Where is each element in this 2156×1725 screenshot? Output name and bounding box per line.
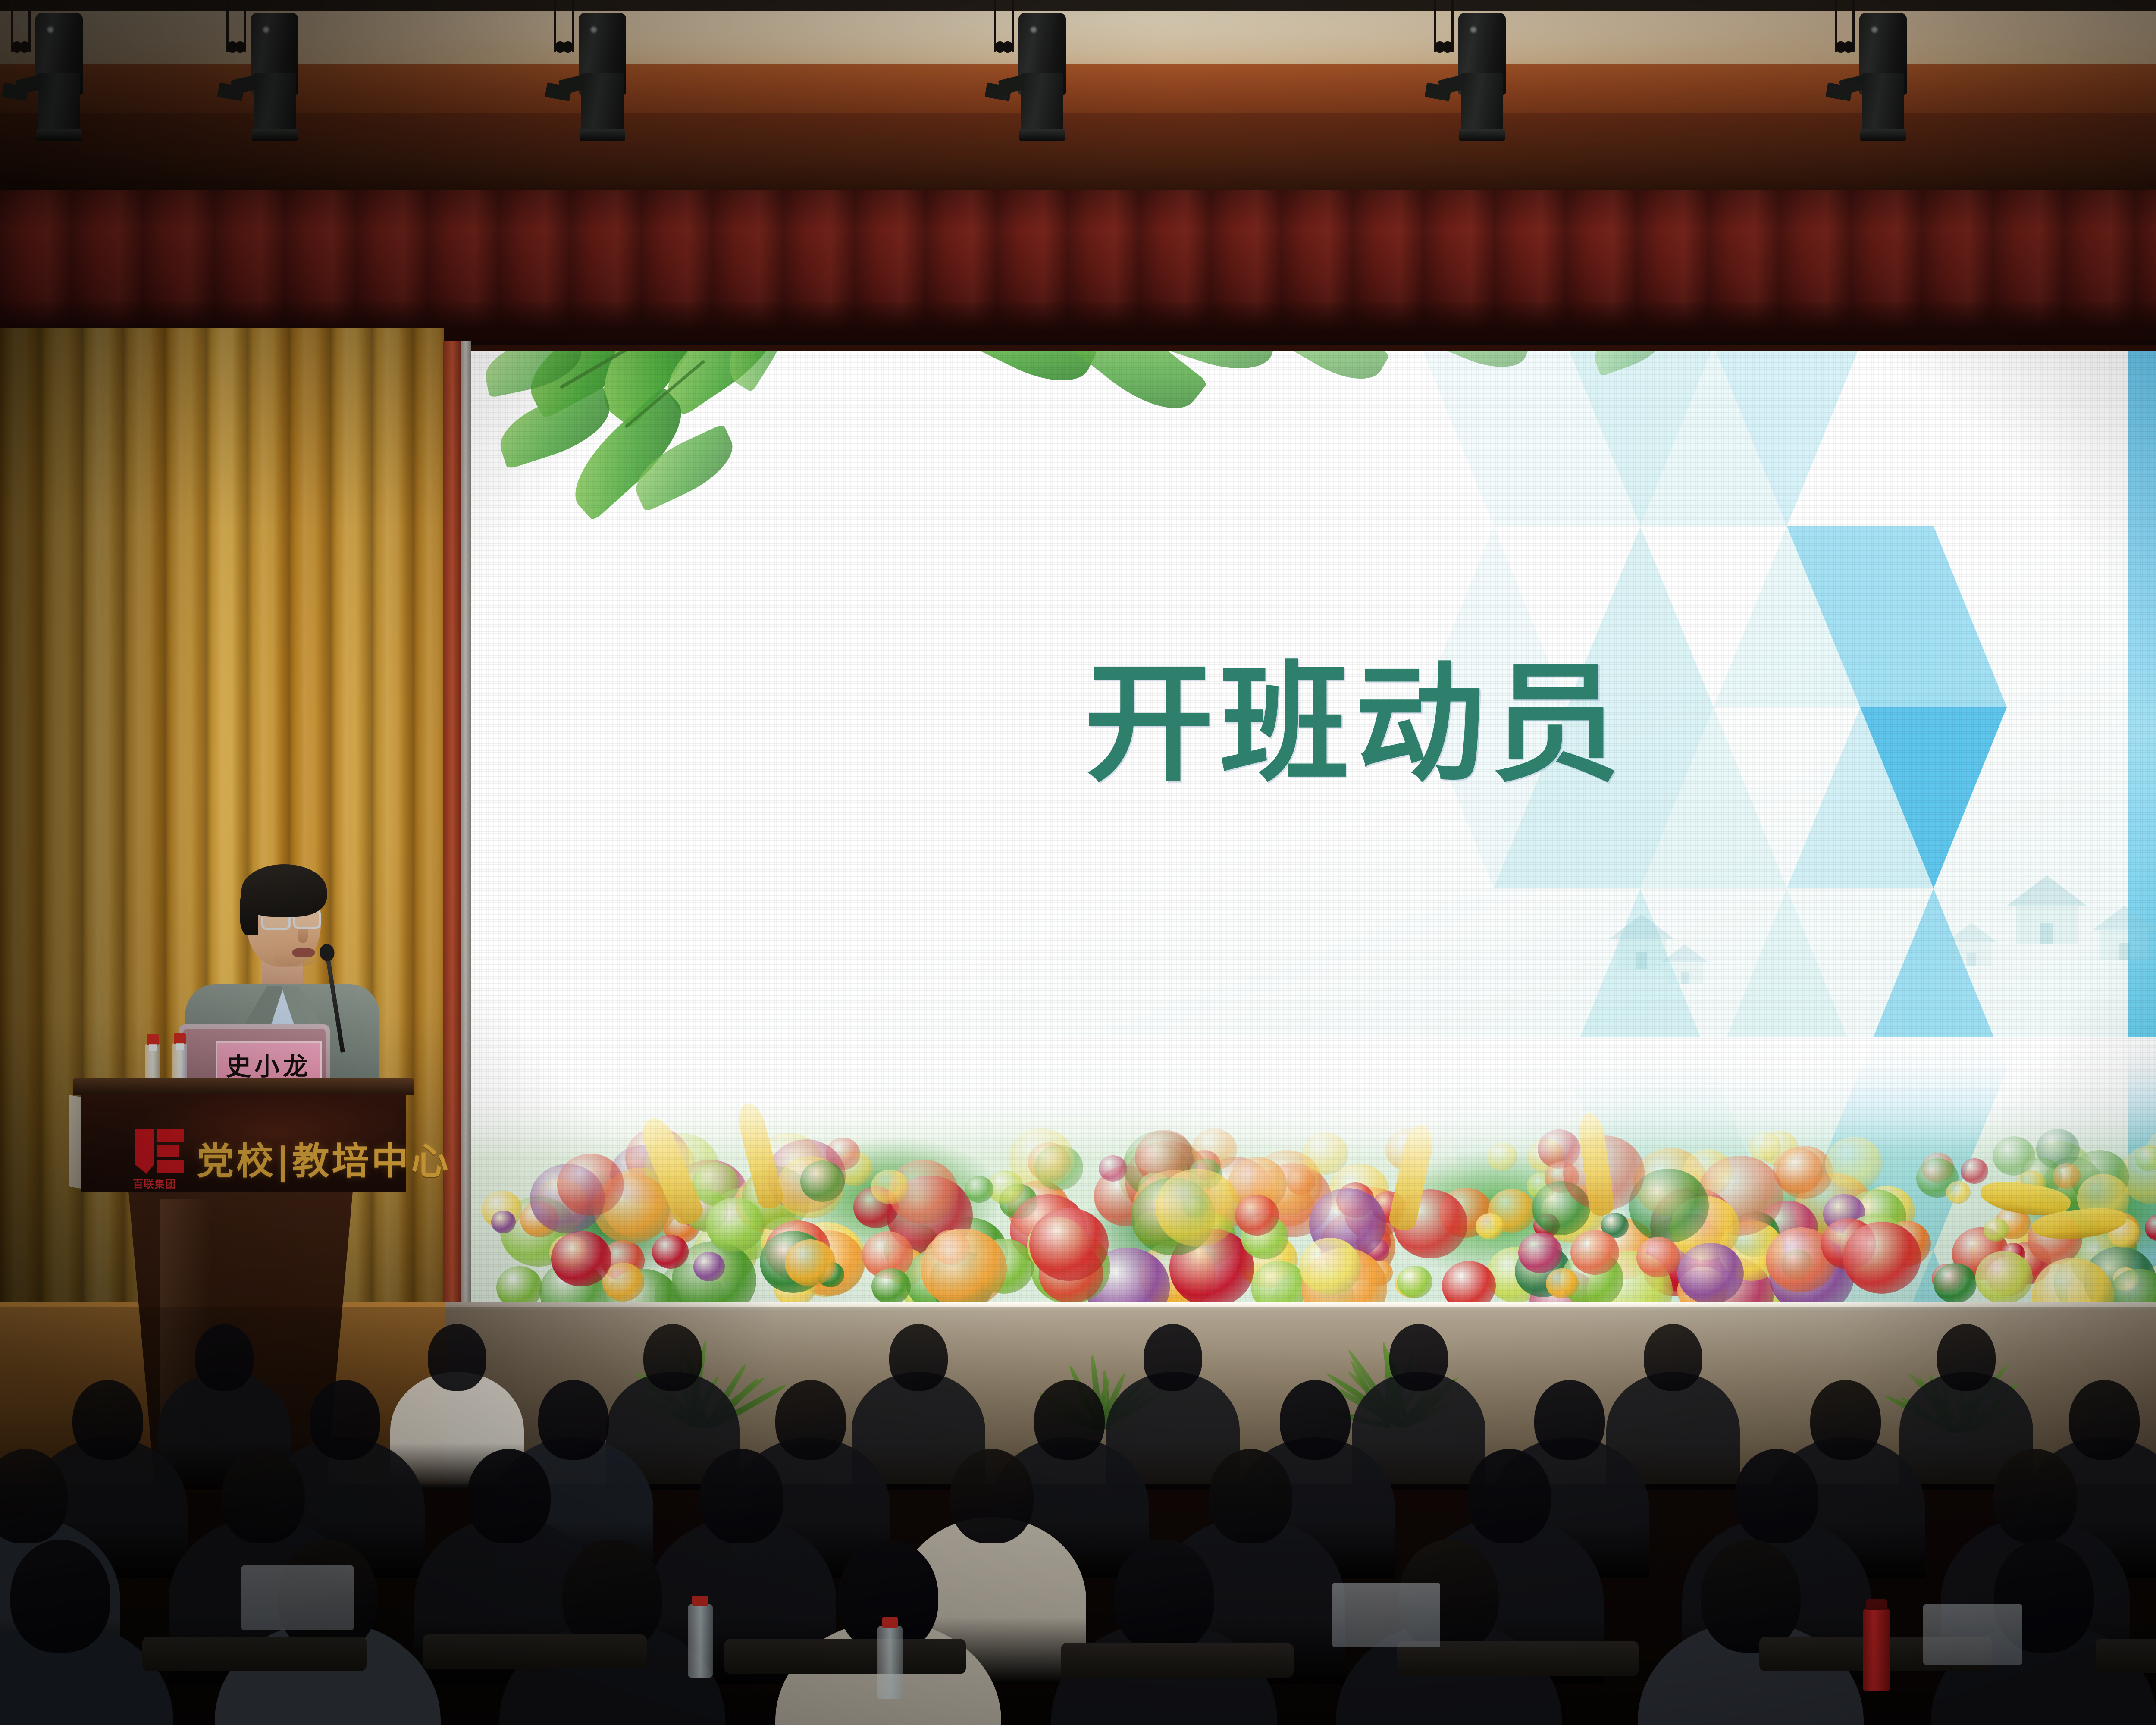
audience-head [2069,1380,2139,1460]
audience-head [950,1449,1034,1543]
logo-mark-l [135,1129,154,1174]
house-door [1681,972,1689,985]
audience-head [1144,1324,1203,1391]
audience-head [1644,1324,1703,1391]
audience-head [538,1380,608,1460]
farmhouse-shape [2092,906,2156,961]
house-roof [2006,875,2088,906]
audience-head [1810,1380,1880,1460]
seat-back [423,1634,647,1669]
house-roof [1609,914,1674,939]
produce-fade [471,1037,2156,1305]
audience-head [467,1449,551,1543]
produce-band-graphic [471,1037,2156,1305]
audience-head [310,1380,380,1460]
lighting-truss-rail [0,0,2156,11]
house-door [1967,953,1975,966]
audience-head [72,1380,143,1460]
speaker-mouth [292,948,315,957]
speaker-hair-side [240,888,258,935]
podium-org-label: 党校|教培中心 [197,1131,451,1185]
house-door [2119,943,2130,960]
bottle-neck [176,1043,184,1050]
bottle-cap [882,1617,898,1628]
house-door [1636,952,1647,969]
bottle-neck [149,1044,157,1051]
audience-head [775,1380,846,1460]
audience-head [1114,1540,1214,1653]
audience-head [195,1324,254,1391]
bailian-group-logo-icon: 百联集团 [133,1127,188,1184]
audience-head [221,1449,305,1543]
water-bottle [877,1626,903,1699]
speaker-name-text: 史小龙 [226,1046,311,1082]
audience-area [0,1307,2156,1725]
farmhouse-shape [1661,944,1708,985]
led-presentation-screen [471,345,2156,1305]
audience-head [700,1449,783,1543]
farmhouse-shape [1946,923,1997,967]
house-roof [1661,944,1708,962]
speaker-nose [298,927,308,943]
audience-head [1937,1324,1996,1391]
house-roof [1946,923,1997,942]
logo-mark-bar-bottom [157,1160,184,1173]
podium-front-panel: 百联集团 党校|教培中心 [81,1094,406,1192]
audience-head [10,1540,110,1653]
screen-top-edge [471,345,2156,351]
audience-head [1034,1380,1104,1460]
seat-back [142,1637,367,1671]
audience-head [1993,1449,2077,1543]
audience-laptop [1332,1583,1440,1647]
ceiling-shadow [0,0,2156,198]
farmhouse-shape [2006,875,2088,945]
audience-head [1534,1380,1604,1460]
audience-head [889,1324,948,1391]
logo-mark-bar-top [157,1129,184,1142]
bottle-cap [692,1596,708,1606]
audience-head [1209,1449,1292,1543]
audience-head [1280,1380,1350,1460]
audience-head [1701,1540,1801,1653]
audience-head [643,1324,702,1391]
logo-mark-bar-mid [157,1145,179,1157]
red-thermos [1863,1609,1890,1690]
audience-laptop [241,1565,354,1630]
audience-head [1389,1324,1448,1391]
seat-back [2096,1639,2156,1673]
seat-back [1061,1643,1294,1678]
audience-laptop [1923,1604,2022,1665]
logo-subtext: 百联集团 [133,1176,188,1187]
audience-head [428,1324,487,1391]
podium-top-surface [73,1078,414,1095]
audience-head [1467,1449,1551,1543]
house-roof [2092,906,2156,930]
thermos-cap [1866,1599,1887,1610]
water-bottle [688,1604,713,1678]
house-door [2040,923,2053,944]
slide-title: 开班动员 [471,660,2156,789]
screen-bezel-left [461,341,471,1311]
conference-hall-photo: 开班动员 史小龙 [0,0,2156,1725]
seat-back [724,1639,966,1674]
audience-head [1735,1449,1818,1543]
